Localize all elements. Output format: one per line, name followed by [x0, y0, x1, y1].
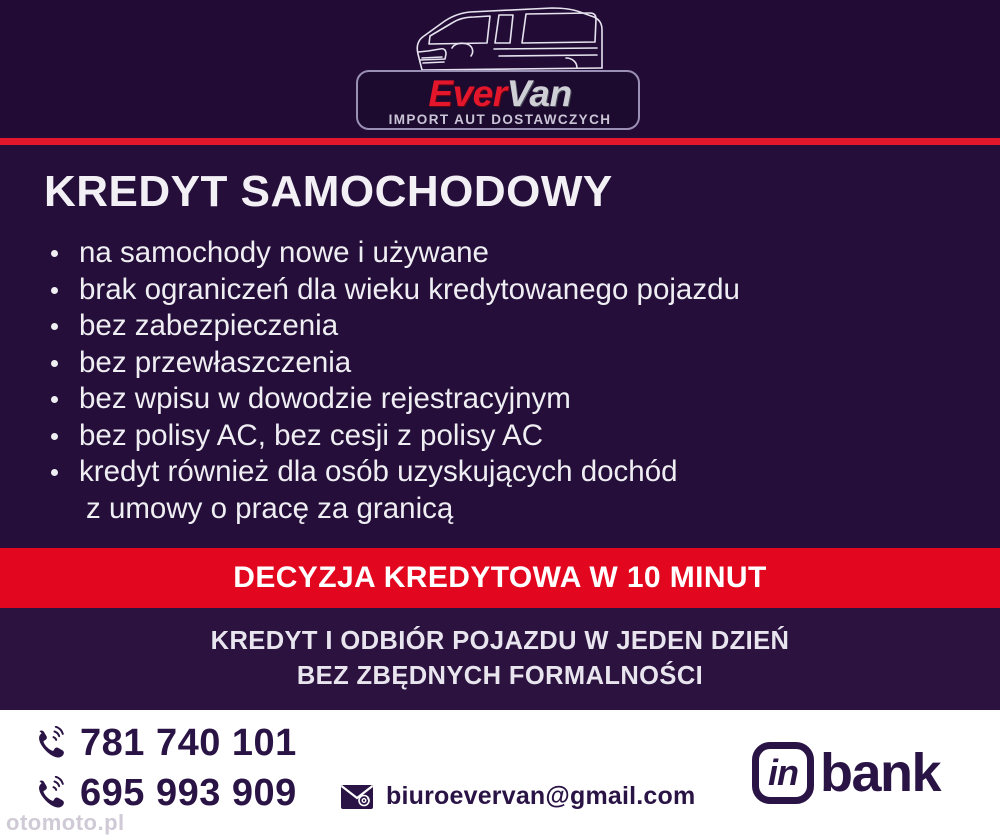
logo-word-van: Van: [507, 73, 572, 114]
sub-banner-line-2: BEZ ZBĘDNYCH FORMALNOŚCI: [0, 659, 1000, 694]
header-bar: EverVan IMPORT AUT DOSTAWCZYCH: [0, 0, 1000, 138]
list-item-label: bez polisy AC, bez cesji z polisy AC: [79, 419, 543, 452]
bullet-dot-icon: [51, 287, 58, 294]
inbank-partner-logo: in bank: [752, 742, 940, 804]
list-item: bez polisy AC, bez cesji z polisy AC: [46, 418, 946, 455]
phone-number-1: 781 740 101: [80, 722, 297, 765]
bullet-dot-icon: [51, 396, 58, 403]
list-item: na samochody nowe i używane: [46, 235, 946, 272]
contact-phone-1[interactable]: 781 740 101: [32, 722, 297, 765]
contact-phone-2[interactable]: 695 993 909: [32, 772, 297, 815]
bullet-dot-icon: [51, 469, 58, 476]
sub-banner-line-1: KREDYT I ODBIÓR POJAZDU W JEDEN DZIEŃ: [0, 608, 1000, 659]
list-item-label: brak ograniczeń dla wieku kredytowanego …: [79, 273, 740, 306]
inbank-mark: in: [752, 742, 814, 804]
highlight-banner: DECYZJA KREDYTOWA W 10 MINUT: [0, 548, 1000, 608]
evervan-logo: EverVan IMPORT AUT DOSTAWCZYCH: [348, 2, 648, 136]
list-item: brak ograniczeń dla wieku kredytowanego …: [46, 272, 946, 309]
bullet-dot-icon: [51, 360, 58, 367]
list-item: bez przewłaszczenia: [46, 345, 946, 382]
phone-ringing-icon: [32, 776, 68, 812]
list-item-label: bez wpisu w dowodzie rejestracyjnym: [79, 382, 571, 415]
header-red-divider: [0, 138, 1000, 145]
list-item-label: bez zabezpieczenia: [79, 309, 338, 342]
phone-number-2: 695 993 909: [80, 772, 297, 815]
main-panel: KREDYT SAMOCHODOWY na samochody nowe i u…: [0, 145, 1000, 548]
envelope-at-icon: [340, 784, 374, 810]
advertisement-banner: EverVan IMPORT AUT DOSTAWCZYCH KREDYT SA…: [0, 0, 1000, 838]
list-item: bez wpisu w dowodzie rejestracyjnym: [46, 381, 946, 418]
list-item-label: z umowy o pracę za granicą: [86, 492, 453, 525]
bullet-dot-icon: [51, 323, 58, 330]
logo-plate: EverVan IMPORT AUT DOSTAWCZYCH: [356, 70, 640, 130]
list-item-label: na samochody nowe i używane: [79, 236, 489, 269]
list-item-label: bez przewłaszczenia: [79, 346, 351, 379]
email-address: biuroevervan@gmail.com: [386, 782, 695, 811]
list-item: kredyt również dla osób uzyskujących doc…: [46, 454, 946, 491]
phone-ringing-icon: [32, 726, 68, 762]
logo-wordmark: EverVan: [358, 74, 642, 114]
list-item-continuation: z umowy o pracę za granicą: [46, 491, 946, 528]
feature-list: na samochody nowe i używane brak ogranic…: [46, 235, 946, 527]
inbank-wordmark: bank: [820, 746, 940, 800]
contact-email[interactable]: biuroevervan@gmail.com: [340, 782, 695, 811]
logo-word-ever: Ever: [428, 73, 506, 114]
list-item-label: kredyt również dla osób uzyskujących doc…: [79, 455, 678, 488]
van-line-art-icon: [366, 2, 628, 74]
bullet-dot-icon: [51, 433, 58, 440]
list-item: bez zabezpieczenia: [46, 308, 946, 345]
watermark: otomoto.pl: [6, 810, 125, 836]
bullet-dot-icon: [51, 250, 58, 257]
sub-banner: KREDYT I ODBIÓR POJAZDU W JEDEN DZIEŃ BE…: [0, 608, 1000, 710]
highlight-banner-text: DECYZJA KREDYTOWA W 10 MINUT: [233, 561, 766, 595]
page-title: KREDYT SAMOCHODOWY: [44, 167, 613, 217]
logo-tagline: IMPORT AUT DOSTAWCZYCH: [358, 112, 642, 127]
